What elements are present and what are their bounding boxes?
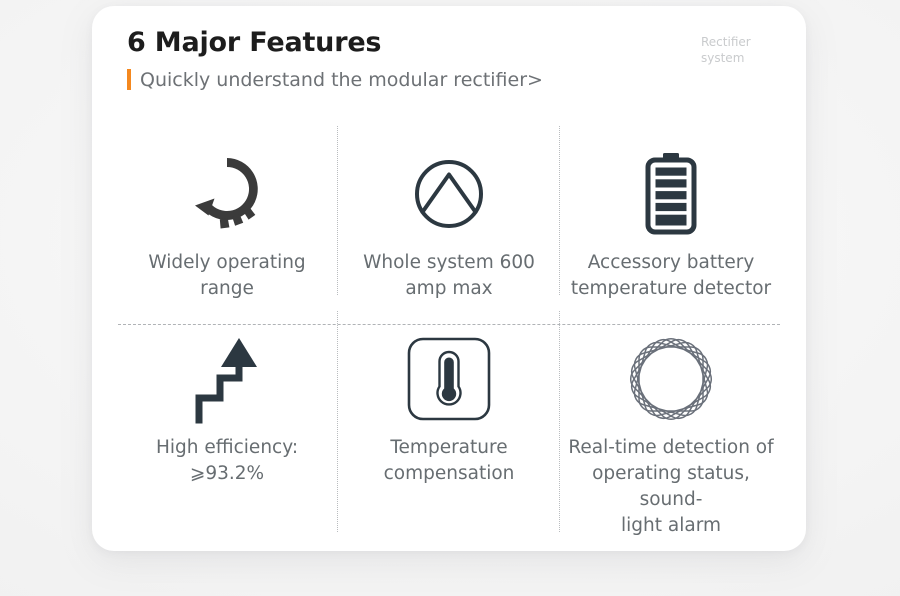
feature-icon-container — [641, 142, 701, 246]
circular-arrow-dashed-icon — [185, 153, 269, 235]
corner-label: Rectifier system — [701, 34, 773, 66]
battery-full-icon — [641, 151, 701, 237]
feature-cell-accessory-battery-temperature-detector[interactable]: Accessory battery temperature detector — [560, 118, 782, 303]
feature-icon-container — [411, 142, 487, 246]
card-header: 6 Major Features Quickly understand the … — [127, 28, 782, 91]
feature-cell-real-time-detection[interactable]: Real-time detection of operating status,… — [560, 303, 782, 540]
feature-caption: Widely operating range — [120, 250, 335, 303]
circle-chevron-up-icon — [411, 156, 487, 232]
thermometer-icon — [406, 336, 492, 422]
feature-caption: Temperature compensation — [384, 435, 515, 488]
accent-bar — [127, 69, 131, 90]
page-subtitle: Quickly understand the modular rectifier… — [140, 69, 543, 91]
feature-icon-container — [406, 327, 492, 431]
feature-cell-high-efficiency[interactable]: High efficiency: ⩾93.2% — [116, 303, 338, 540]
feature-icon-container — [189, 327, 265, 431]
features-card: 6 Major Features Quickly understand the … — [92, 6, 806, 551]
feature-icon-container — [628, 327, 714, 431]
stairs-arrow-up-icon — [189, 334, 265, 424]
feature-caption: Whole system 600 amp max — [363, 250, 535, 303]
feature-icon-container — [185, 142, 269, 246]
page-title: 6 Major Features — [127, 28, 782, 58]
radar-spirograph-icon — [628, 336, 714, 422]
row-divider — [118, 324, 780, 325]
feature-caption: High efficiency: ⩾93.2% — [156, 435, 298, 488]
feature-cell-widely-operating-range[interactable]: Widely operating range — [116, 118, 338, 303]
feature-cell-whole-system-600-amp-max[interactable]: Whole system 600 amp max — [338, 118, 560, 303]
feature-caption: Accessory battery temperature detector — [571, 250, 771, 303]
feature-caption: Real-time detection of operating status,… — [564, 435, 779, 540]
feature-cell-temperature-compensation[interactable]: Temperature compensation — [338, 303, 560, 540]
subtitle-row: Quickly understand the modular rectifier… — [127, 69, 782, 91]
